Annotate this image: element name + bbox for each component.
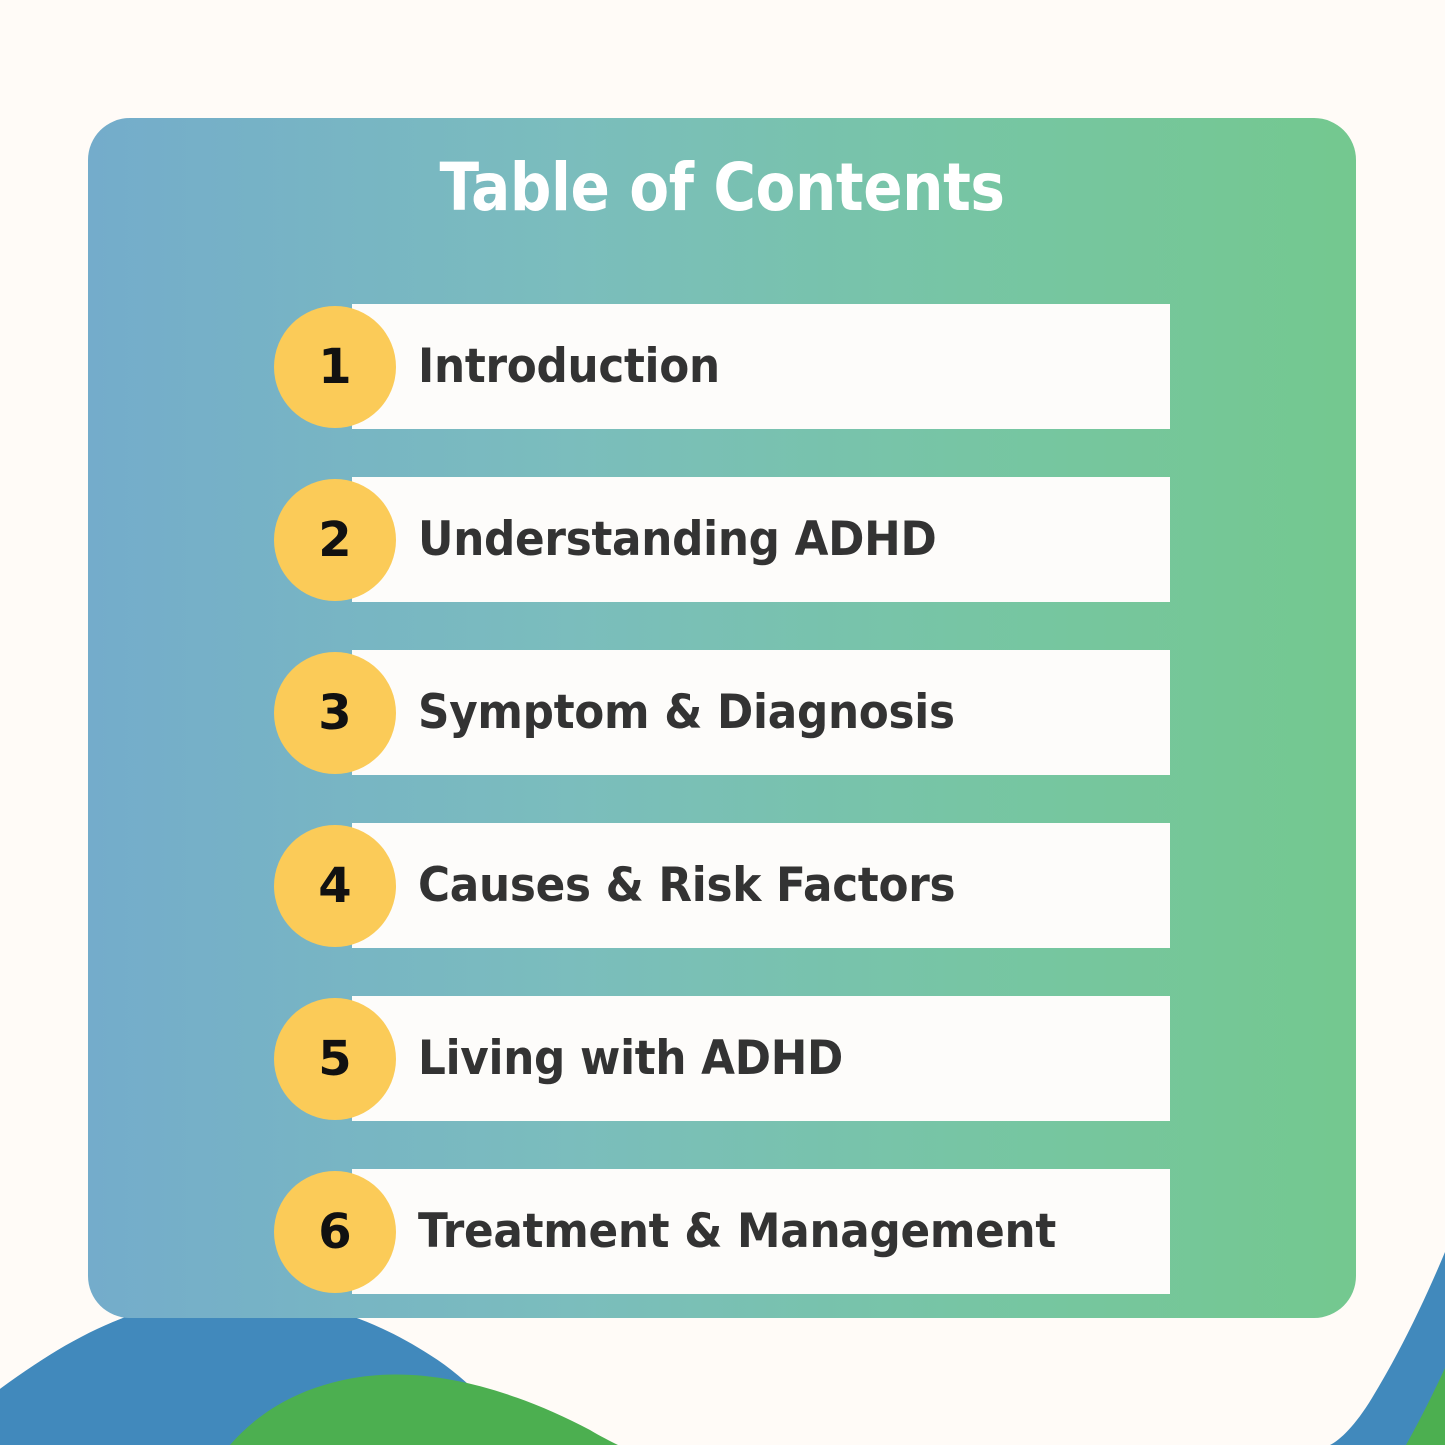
toc-item-label: Treatment & Management — [418, 1169, 1056, 1294]
poster-canvas: Table of Contents 1 Introduction 2 Under… — [0, 0, 1445, 1445]
toc-item-label: Introduction — [418, 304, 720, 429]
blue-hill-shape — [0, 1296, 520, 1445]
toc-number-badge: 6 — [274, 1171, 396, 1293]
toc-item-label: Causes & Risk Factors — [418, 823, 955, 948]
right-green-accent — [1406, 1368, 1445, 1445]
page-title: Table of Contents — [164, 152, 1280, 225]
green-hill-shape — [230, 1375, 618, 1445]
toc-number-badge: 5 — [274, 998, 396, 1120]
toc-number-badge: 3 — [274, 652, 396, 774]
toc-number-badge: 4 — [274, 825, 396, 947]
list-item[interactable]: 3 Symptom & Diagnosis — [88, 650, 1356, 775]
table-of-contents-card: Table of Contents 1 Introduction 2 Under… — [88, 118, 1356, 1318]
list-item[interactable]: 1 Introduction — [88, 304, 1356, 429]
toc-item-label: Symptom & Diagnosis — [418, 650, 955, 775]
list-item[interactable]: 2 Understanding ADHD — [88, 477, 1356, 602]
list-item[interactable]: 4 Causes & Risk Factors — [88, 823, 1356, 948]
blue-hill-body — [0, 1296, 524, 1445]
list-item[interactable]: 6 Treatment & Management — [88, 1169, 1356, 1294]
toc-list: 1 Introduction 2 Understanding ADHD 3 Sy… — [88, 304, 1356, 1294]
toc-item-label: Understanding ADHD — [418, 477, 936, 602]
toc-number-badge: 1 — [274, 306, 396, 428]
list-item[interactable]: 5 Living with ADHD — [88, 996, 1356, 1121]
toc-number-badge: 2 — [274, 479, 396, 601]
toc-item-label: Living with ADHD — [418, 996, 843, 1121]
